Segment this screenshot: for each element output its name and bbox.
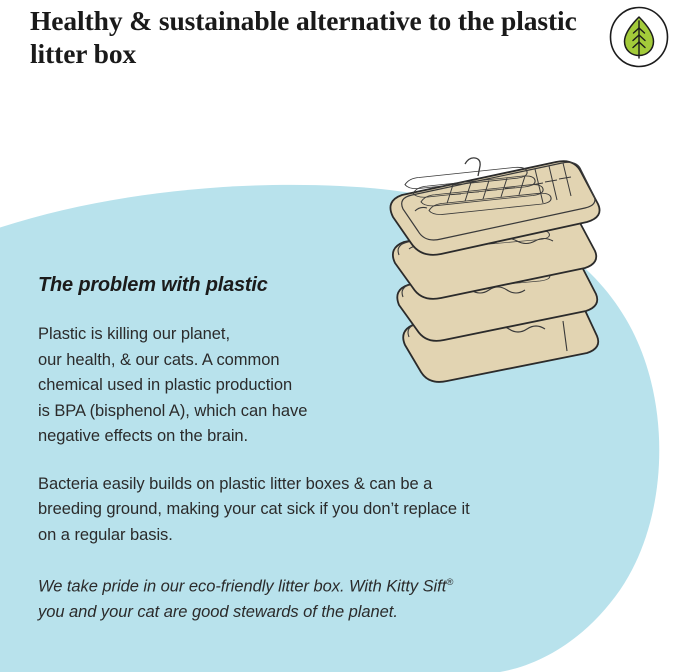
content-column: The problem with plastic Plastic is kill… <box>38 274 598 626</box>
brand-statement-text-after: you and your cat are good stewards of th… <box>38 603 398 621</box>
paragraph-brand-statement: We take pride in our eco-friendly litter… <box>38 570 583 626</box>
registered-trademark-mark: ® <box>446 577 453 588</box>
leaf-in-circle-icon <box>608 6 670 68</box>
paragraph-problem-with-plastic: Plastic is killing our planet, our healt… <box>38 322 383 450</box>
page-header: Healthy & sustainable alternative to the… <box>0 0 679 96</box>
section-heading: The problem with plastic <box>38 274 598 297</box>
paragraph-bacteria: Bacteria easily builds on plastic litter… <box>38 472 573 549</box>
page-title: Healthy & sustainable alternative to the… <box>30 4 590 70</box>
brand-statement-text-before: We take pride in our eco-friendly litter… <box>38 578 446 596</box>
